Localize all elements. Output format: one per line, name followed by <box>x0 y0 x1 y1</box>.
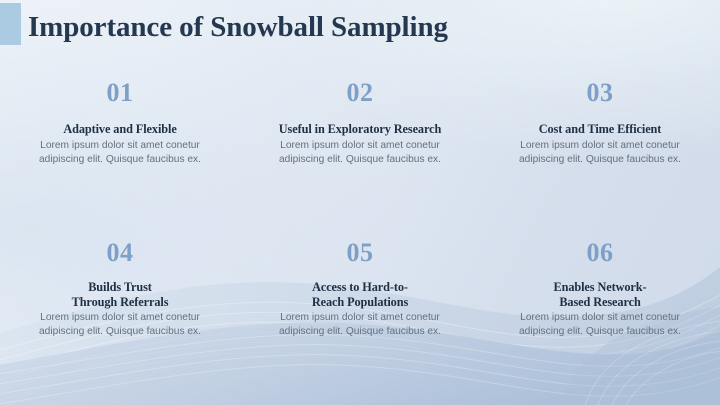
title-block: Importance of Snowball Sampling <box>0 0 720 56</box>
items-grid: 01 Adaptive and Flexible Lorem ipsum dol… <box>0 78 720 398</box>
item-body: Lorem ipsum dolor sit amet conetur adipi… <box>496 311 704 339</box>
item-number: 03 <box>496 78 704 108</box>
item-number: 05 <box>256 238 464 268</box>
item-number: 04 <box>16 238 224 268</box>
page-title: Importance of Snowball Sampling <box>28 10 448 44</box>
item-04: 04 Builds Trust Through Referrals Lorem … <box>0 238 240 398</box>
item-heading: Builds Trust Through Referrals <box>16 280 224 309</box>
item-body: Lorem ipsum dolor sit amet conetur adipi… <box>16 311 224 339</box>
item-body: Lorem ipsum dolor sit amet conetur adipi… <box>16 139 224 167</box>
item-number: 01 <box>16 78 224 108</box>
item-body: Lorem ipsum dolor sit amet conetur adipi… <box>496 139 704 167</box>
item-number: 06 <box>496 238 704 268</box>
item-heading: Useful in Exploratory Research <box>256 122 464 137</box>
item-heading: Adaptive and Flexible <box>16 122 224 137</box>
item-heading: Access to Hard-to- Reach Populations <box>256 280 464 309</box>
item-heading: Enables Network- Based Research <box>496 280 704 309</box>
item-heading: Cost and Time Efficient <box>496 122 704 137</box>
item-body: Lorem ipsum dolor sit amet conetur adipi… <box>256 311 464 339</box>
item-05: 05 Access to Hard-to- Reach Populations … <box>240 238 480 398</box>
title-accent-block <box>0 3 21 45</box>
item-03: 03 Cost and Time Efficient Lorem ipsum d… <box>480 78 720 238</box>
item-number: 02 <box>256 78 464 108</box>
slide-canvas: Importance of Snowball Sampling 01 Adapt… <box>0 0 720 405</box>
item-body: Lorem ipsum dolor sit amet conetur adipi… <box>256 139 464 167</box>
item-02: 02 Useful in Exploratory Research Lorem … <box>240 78 480 238</box>
item-06: 06 Enables Network- Based Research Lorem… <box>480 238 720 398</box>
item-01: 01 Adaptive and Flexible Lorem ipsum dol… <box>0 78 240 238</box>
